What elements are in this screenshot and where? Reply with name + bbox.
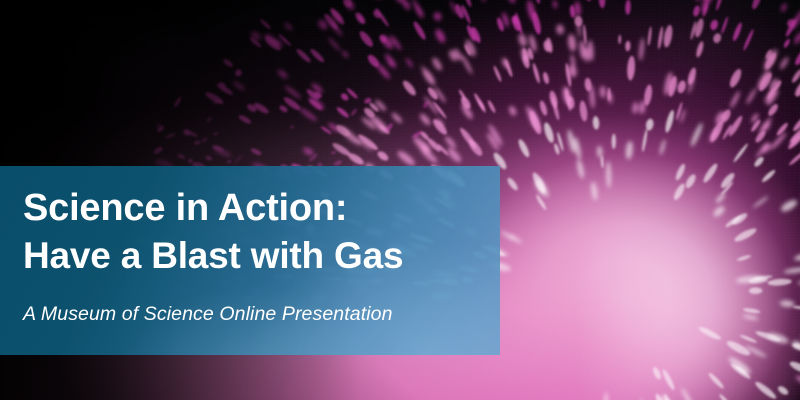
event-subtitle: A Museum of Science Online Presentation (23, 302, 500, 326)
event-title-line-2: Have a Blast with Gas (23, 232, 500, 280)
title-panel-content: Science in Action: Have a Blast with Gas… (0, 166, 500, 326)
event-title-line-1: Science in Action: (23, 184, 500, 232)
event-banner: Science in Action: Have a Blast with Gas… (0, 0, 800, 400)
title-panel: Science in Action: Have a Blast with Gas… (0, 166, 500, 355)
